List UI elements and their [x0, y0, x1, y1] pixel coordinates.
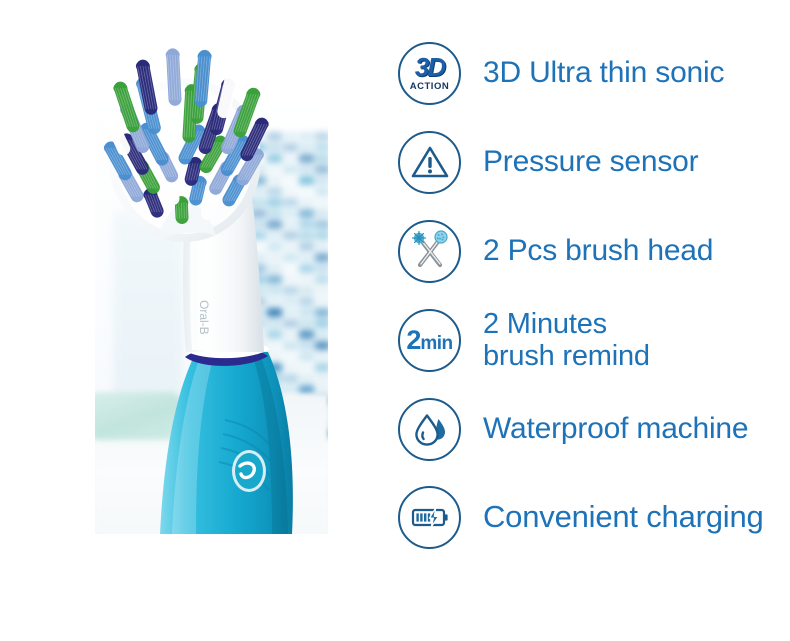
product-photo: Oral-B: [0, 0, 380, 641]
battery-charging-icon: [398, 486, 461, 549]
timer-icon-unit: min: [420, 333, 452, 355]
3d-action-icon-primary-text: 3D: [415, 54, 444, 80]
feature-label-brush-heads: 2 Pcs brush head: [483, 235, 713, 267]
feature-row-two-minute-timer: 2 min 2 Minutes brush remind: [398, 307, 650, 373]
feature-label-pressure-sensor: Pressure sensor: [483, 146, 698, 178]
feature-row-charging: Convenient charging: [398, 484, 764, 550]
feature-row-waterproof: Waterproof machine: [398, 396, 748, 462]
two-brush-heads-icon: [398, 220, 461, 283]
scene-mosaic-tiles: [203, 132, 328, 432]
feature-label-two-minute-timer: 2 Minutes brush remind: [483, 308, 650, 373]
feature-label-charging: Convenient charging: [483, 501, 764, 534]
feature-label-3d-sonic: 3D Ultra thin sonic: [483, 57, 724, 89]
feature-row-3d-sonic: 3D ACTION 3D Ultra thin sonic: [398, 40, 724, 106]
feature-row-pressure-sensor: Pressure sensor: [398, 129, 698, 195]
feature-label-waterproof: Waterproof machine: [483, 413, 748, 445]
3d-action-icon-secondary-text: ACTION: [410, 82, 449, 92]
photo-scene-frame: [95, 92, 328, 534]
3d-action-icon: 3D ACTION: [398, 42, 461, 105]
feature-list: 3D ACTION 3D Ultra thin sonic Pressure s…: [398, 0, 790, 641]
feature-row-brush-heads: 2 Pcs brush head: [398, 218, 713, 284]
water-drop-icon: [398, 398, 461, 461]
timer-icon-number: 2: [406, 325, 420, 356]
scene-towel: [95, 392, 181, 440]
two-minute-timer-icon: 2 min: [398, 309, 461, 372]
product-feature-page: Oral-B 3D ACTION 3D Ultra thin sonic: [0, 0, 790, 641]
scene-mirror: [113, 212, 183, 422]
pressure-warning-icon: [398, 131, 461, 194]
